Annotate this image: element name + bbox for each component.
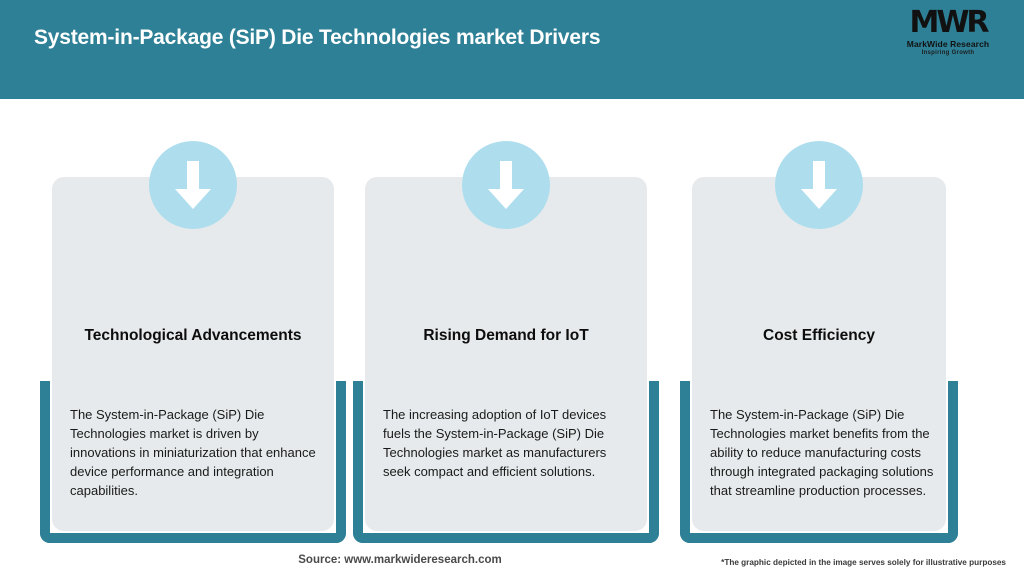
arrow-down-icon bbox=[775, 141, 863, 229]
brand-logo: MWR MarkWide Research Inspiring Growth bbox=[894, 8, 1002, 60]
driver-cards-row: Technological Advancements The System-in… bbox=[0, 99, 1024, 544]
infographic-slide: System-in-Package (SiP) Die Technologies… bbox=[0, 0, 1024, 576]
card-description: The System-in-Package (SiP) Die Technolo… bbox=[70, 405, 318, 500]
header-bar: System-in-Package (SiP) Die Technologies… bbox=[0, 0, 1024, 99]
page-title: System-in-Package (SiP) Die Technologies… bbox=[34, 26, 600, 50]
card-panel: Technological Advancements The System-in… bbox=[52, 177, 334, 531]
card-description: The increasing adoption of IoT devices f… bbox=[383, 405, 631, 481]
card-title: Rising Demand for IoT bbox=[379, 327, 633, 345]
driver-card: Rising Demand for IoT The increasing ado… bbox=[353, 99, 659, 544]
logo-tagline: Inspiring Growth bbox=[922, 49, 975, 57]
driver-card: Technological Advancements The System-in… bbox=[40, 99, 346, 544]
logo-monogram: MWR bbox=[909, 8, 986, 38]
logo-company-name: MarkWide Research bbox=[907, 39, 989, 49]
arrow-down-icon bbox=[149, 141, 237, 229]
card-panel: Cost Efficiency The System-in-Package (S… bbox=[692, 177, 946, 531]
disclaimer-text: *The graphic depicted in the image serve… bbox=[721, 558, 1006, 567]
card-title: Cost Efficiency bbox=[706, 327, 932, 345]
card-title: Technological Advancements bbox=[66, 327, 320, 345]
arrow-down-icon bbox=[462, 141, 550, 229]
card-description: The System-in-Package (SiP) Die Technolo… bbox=[710, 405, 938, 500]
source-text: Source: www.markwideresearch.com bbox=[298, 554, 501, 566]
card-panel: Rising Demand for IoT The increasing ado… bbox=[365, 177, 647, 531]
driver-card: Cost Efficiency The System-in-Package (S… bbox=[680, 99, 958, 544]
